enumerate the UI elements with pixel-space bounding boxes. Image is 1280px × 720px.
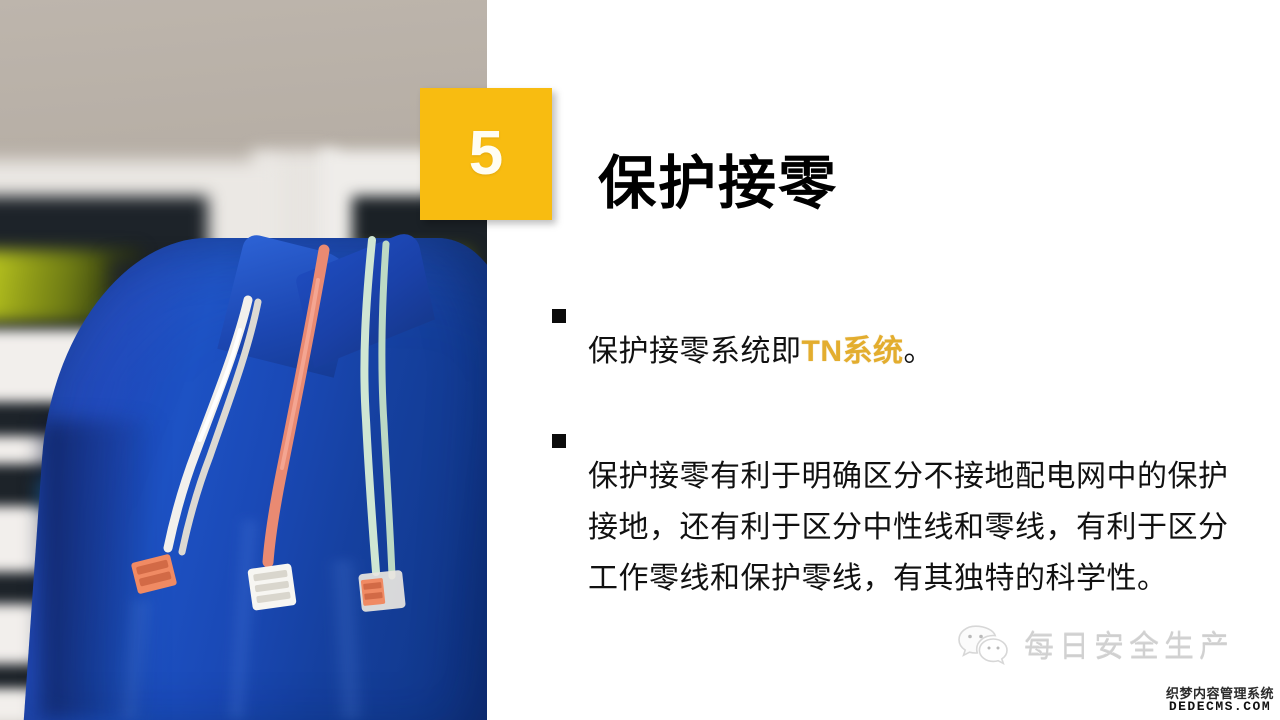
bullet-highlight: TN系统 xyxy=(802,335,904,368)
bullet-list: 保护接零系统即TN系统。 保护接零有利于明确区分不接地配电网中的保护接地，还有利… xyxy=(552,296,1232,648)
dedecms-en-label: DEDECMS.COM xyxy=(1166,700,1274,714)
bullet-text-lead: 保护接零系统即 xyxy=(588,335,802,368)
watermark: 每日安全生产 xyxy=(956,622,1234,666)
terminal-connector-salmon xyxy=(131,554,178,595)
section-number-badge: 5 xyxy=(420,88,552,220)
page-title: 保护接零 xyxy=(598,151,838,218)
green-cable xyxy=(364,240,376,572)
list-item: 保护接零有利于明确区分不接地配电网中的保护接地，还有利于区分中性线和零线，有利于… xyxy=(552,421,1232,634)
bullet-text-lead: 保护接零有利于明确区分不接地配电网中的保护接地，还有利于区分中性线和零线，有利于… xyxy=(588,460,1229,595)
square-bullet-icon xyxy=(552,434,566,448)
list-item: 保护接零系统即TN系统。 xyxy=(552,296,1232,407)
dedecms-cn-label: 织梦内容管理系统 xyxy=(1166,687,1274,701)
watermark-account-name: 每日安全生产 xyxy=(1024,622,1234,666)
left-photo xyxy=(0,0,487,720)
terminal-connector-clear xyxy=(358,570,406,612)
section-number: 5 xyxy=(469,123,503,185)
white-cable xyxy=(182,302,258,552)
dedecms-stamp: 织梦内容管理系统 DEDECMS.COM xyxy=(1166,687,1274,714)
salmon-cable-highlight xyxy=(282,280,318,468)
terminal-connector-white xyxy=(247,563,296,611)
wechat-icon xyxy=(956,623,1010,665)
square-bullet-icon xyxy=(552,309,566,323)
bullet-text: 保护接零有利于明确区分不接地配电网中的保护接地，还有利于区分中性线和零线，有利于… xyxy=(588,451,1232,604)
bullet-text-trail: 。 xyxy=(904,335,935,368)
slide-canvas: 5 保护接零 保护接零系统即TN系统。 保护接零有利于明确区分不接地配电网中的保… xyxy=(0,0,1280,720)
green-cable xyxy=(382,244,392,576)
cable-overlay xyxy=(0,0,487,720)
bullet-text: 保护接零系统即TN系统。 xyxy=(588,326,1232,377)
